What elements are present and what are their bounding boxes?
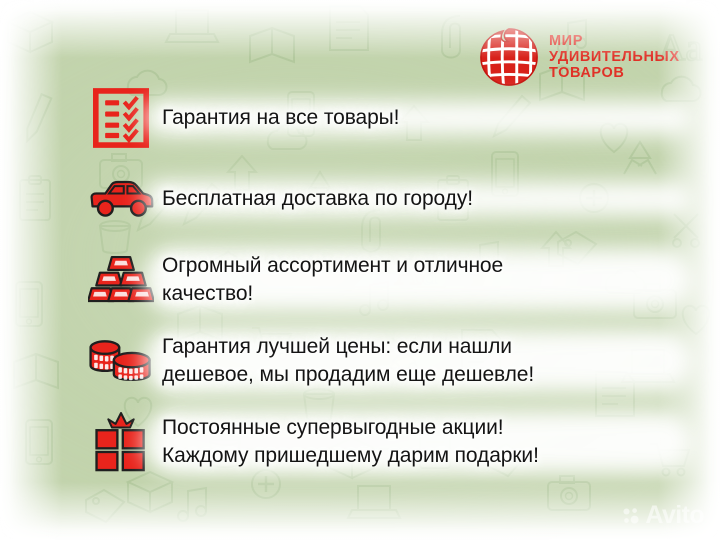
benefit-text-block: Постоянные супервыгодные акции! Каждому … bbox=[162, 408, 680, 476]
benefit-text: Огромный ассортимент и отличное качество… bbox=[162, 252, 503, 308]
benefit-item: Гарантия на все товары! bbox=[80, 84, 680, 152]
benefit-item: Гарантия лучшей цены: если нашли дешевое… bbox=[80, 327, 680, 395]
brand-line-2: УДИВИТЕЛЬНЫХ bbox=[549, 49, 680, 65]
avito-label: Avito bbox=[645, 503, 704, 528]
benefit-text: Бесплатная доставка по городу! bbox=[162, 185, 473, 213]
benefit-line: Бесплатная доставка по городу! bbox=[162, 185, 473, 213]
brand-logo: МИР УДИВИТЕЛЬНЫХ ТОВАРОВ bbox=[478, 26, 680, 88]
benefit-line: качество! bbox=[162, 280, 503, 308]
benefit-item: Постоянные супервыгодные акции! Каждому … bbox=[80, 408, 680, 476]
benefit-line: Гарантия лучшей цены: если нашли bbox=[162, 333, 534, 361]
benefit-line: Огромный ассортимент и отличное bbox=[162, 252, 503, 280]
benefit-line: Постоянные супервыгодные акции! bbox=[162, 414, 539, 442]
benefit-line: Гарантия на все товары! bbox=[162, 104, 399, 132]
benefits-list: Гарантия на все товары! Бесплатная доста… bbox=[80, 84, 680, 489]
avito-watermark: Avito bbox=[622, 503, 704, 528]
brand-line-3: ТОВАРОВ bbox=[549, 65, 680, 81]
benefit-text: Гарантия лучшей цены: если нашли дешевое… bbox=[162, 333, 534, 389]
brand-name: МИР УДИВИТЕЛЬНЫХ ТОВАРОВ bbox=[549, 33, 680, 82]
benefit-text-block: Гарантия на все товары! bbox=[162, 84, 680, 152]
benefit-line: дешевое, мы продадим еще дешевле! bbox=[162, 361, 534, 389]
benefit-line: Каждому пришедшему дарим подарки! bbox=[162, 442, 539, 470]
benefit-text: Постоянные супервыгодные акции! Каждому … bbox=[162, 414, 539, 470]
benefit-text-block: Огромный ассортимент и отличное качество… bbox=[162, 246, 680, 314]
promo-poster: Aa bbox=[0, 0, 720, 540]
brand-line-1: МИР bbox=[549, 33, 680, 49]
avito-dots-icon bbox=[622, 507, 640, 525]
benefit-text-block: Гарантия лучшей цены: если нашли дешевое… bbox=[162, 327, 680, 395]
benefit-text: Гарантия на все товары! bbox=[162, 104, 399, 132]
benefit-item: Бесплатная доставка по городу! bbox=[80, 165, 680, 233]
benefit-item: Огромный ассортимент и отличное качество… bbox=[80, 246, 680, 314]
red-globe-grid-icon bbox=[478, 26, 540, 88]
benefit-text-block: Бесплатная доставка по городу! bbox=[162, 165, 680, 233]
